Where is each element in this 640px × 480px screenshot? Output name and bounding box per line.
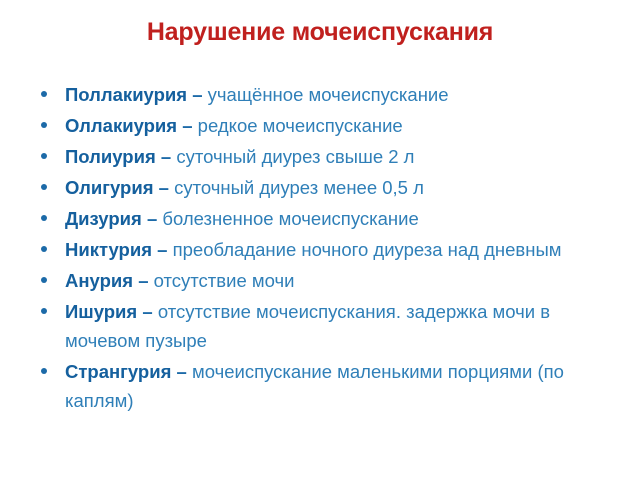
term-label: Ишурия (65, 301, 137, 322)
dash-separator: – (187, 84, 208, 105)
page-title: Нарушение мочеиспускания (0, 18, 640, 47)
slide-root: Нарушение мочеиспускания Поллакиурия – у… (0, 0, 640, 480)
dash-separator: – (142, 208, 163, 229)
dash-separator: – (154, 177, 175, 198)
list-item: Никтурия – преобладание ночного диуреза … (38, 235, 612, 264)
term-label: Поллакиурия (65, 84, 187, 105)
list-item: Дизурия – болезненное мочеиспускание (38, 204, 612, 233)
list-item: Оллакиурия – редкое мочеиспускание (38, 111, 612, 140)
list-item: Странгурия – мочеиспускание маленькими п… (38, 357, 612, 415)
term-label: Анурия (65, 270, 133, 291)
bullet-icon (41, 215, 47, 221)
bullet-icon (41, 122, 47, 128)
bullet-icon (41, 153, 47, 159)
term-definition: отсутствие мочи (154, 270, 295, 291)
term-label: Никтурия (65, 239, 152, 260)
dash-separator: – (133, 270, 154, 291)
term-definition: учащённое мочеиспускание (208, 84, 449, 105)
bullet-icon (41, 308, 47, 314)
list-item: Анурия – отсутствие мочи (38, 266, 612, 295)
term-label: Странгурия (65, 361, 171, 382)
term-label: Олигурия (65, 177, 154, 198)
list-item: Ишурия – отсутствие мочеиспускания. заде… (38, 297, 612, 355)
term-definition: редкое мочеиспускание (198, 115, 403, 136)
term-definition: суточный диурез менее 0,5 л (174, 177, 424, 198)
term-definition: суточный диурез свыше 2 л (176, 146, 414, 167)
term-definition: болезненное мочеиспускание (162, 208, 418, 229)
term-label: Полиурия (65, 146, 156, 167)
bullet-icon (41, 368, 47, 374)
dash-separator: – (171, 361, 192, 382)
dash-separator: – (177, 115, 198, 136)
term-label: Дизурия (65, 208, 142, 229)
term-list: Поллакиурия – учащённое мочеиспускание О… (38, 80, 612, 417)
list-item: Полиурия – суточный диурез свыше 2 л (38, 142, 612, 171)
dash-separator: – (156, 146, 177, 167)
bullet-icon (41, 277, 47, 283)
dash-separator: – (137, 301, 158, 322)
term-definition: преобладание ночного диуреза над дневным (173, 239, 562, 260)
bullet-icon (41, 246, 47, 252)
bullet-icon (41, 184, 47, 190)
list-item: Олигурия – суточный диурез менее 0,5 л (38, 173, 612, 202)
term-label: Оллакиурия (65, 115, 177, 136)
bullet-icon (41, 91, 47, 97)
list-item: Поллакиурия – учащённое мочеиспускание (38, 80, 612, 109)
dash-separator: – (152, 239, 173, 260)
